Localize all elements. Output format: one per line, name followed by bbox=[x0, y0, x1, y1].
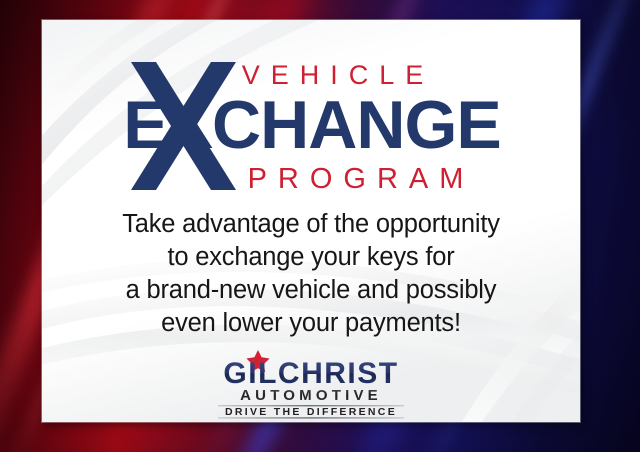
headline-line-1: Take advantage of the opportunity bbox=[60, 208, 562, 241]
dealer-tagline-text: DRIVE THE DIFFERENCE bbox=[225, 406, 397, 418]
logo-text-vehicle: VEHICLE bbox=[242, 60, 435, 90]
headline-text: Take advantage of the opportunity to exc… bbox=[60, 208, 562, 340]
headline-line-2: to exchange your keys for bbox=[60, 241, 562, 274]
dealer-name-text: GILCHRIST bbox=[223, 357, 398, 390]
logo-text-program: PROGRAM bbox=[248, 163, 475, 195]
program-logo-graphic: VEHICLE EXCHANGE PROGRAM bbox=[76, 54, 546, 196]
advertisement-banner: VEHICLE EXCHANGE PROGRAM Take advantage … bbox=[0, 0, 640, 452]
dealer-logo-graphic: GILCHRIST AUTOMOTIVE DRIVE THE DIFFERENC… bbox=[196, 350, 426, 420]
headline-line-3: a brand-new vehicle and possibly bbox=[60, 274, 562, 307]
dealer-subtitle-text: AUTOMOTIVE bbox=[240, 387, 382, 404]
gilchrist-automotive-logo[interactable]: GILCHRIST AUTOMOTIVE DRIVE THE DIFFERENC… bbox=[42, 350, 580, 420]
vehicle-exchange-program-logo: VEHICLE EXCHANGE PROGRAM bbox=[42, 54, 580, 196]
headline-line-4: even lower your payments! bbox=[60, 307, 562, 340]
white-content-card: VEHICLE EXCHANGE PROGRAM Take advantage … bbox=[42, 20, 580, 422]
